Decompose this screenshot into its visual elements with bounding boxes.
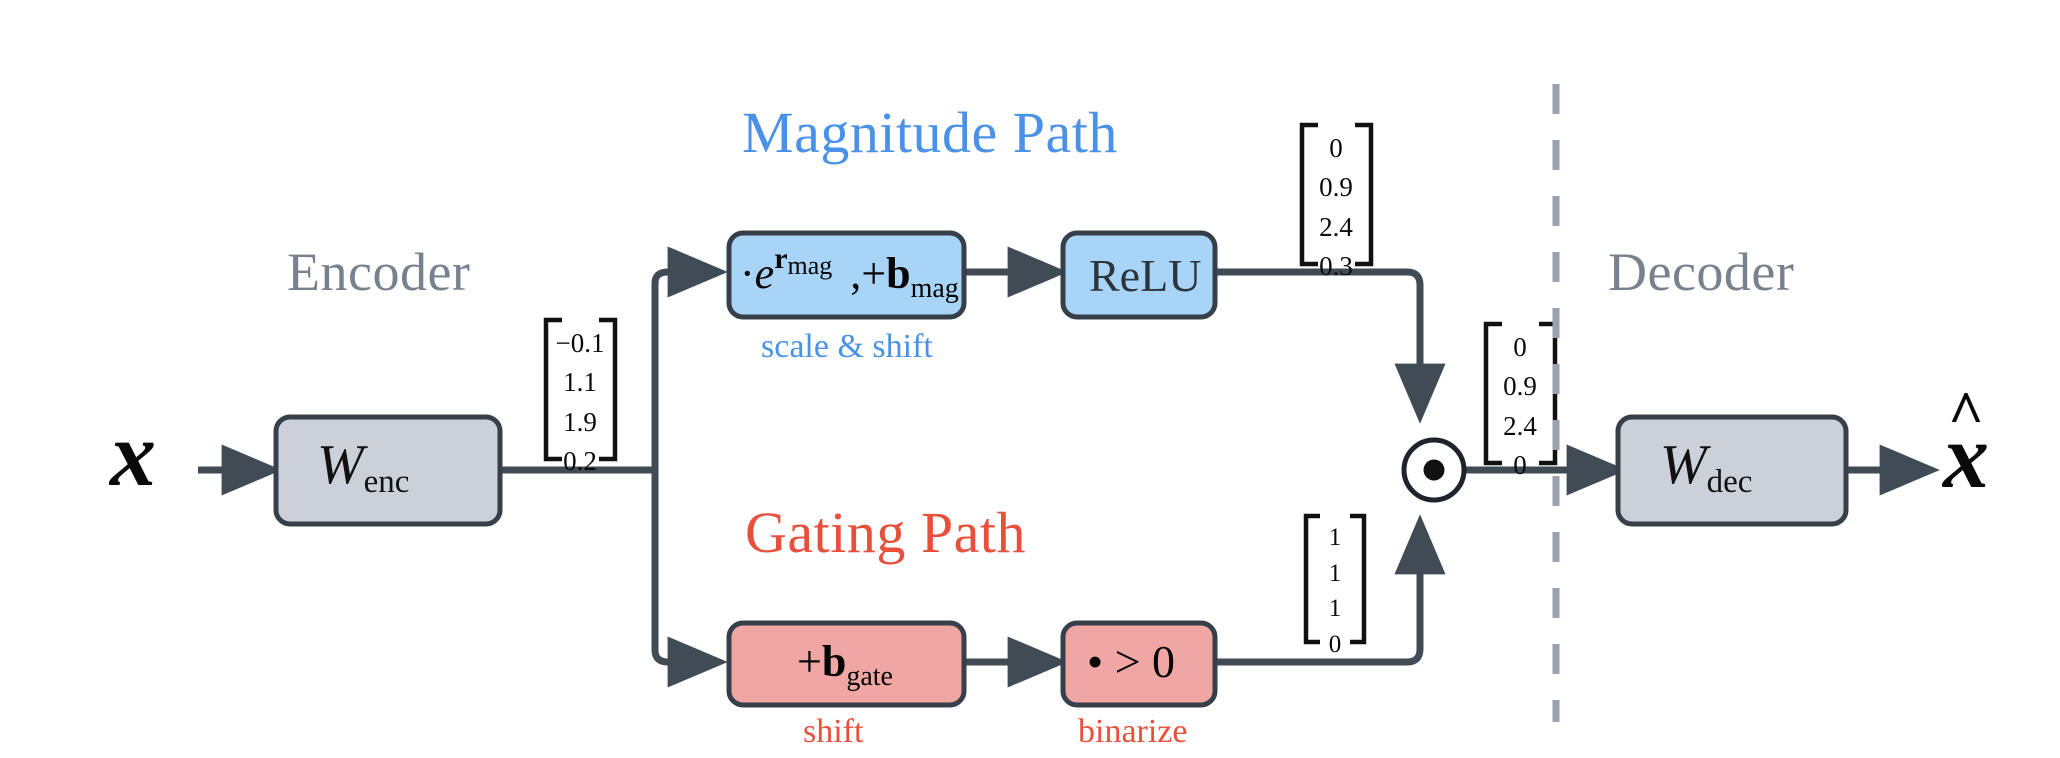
scale-shift-exp-sub: mag (788, 251, 833, 280)
gate-shift-b-sub: gate (846, 661, 893, 692)
gating-path-title: Gating Path (745, 504, 1026, 562)
product-output-vector: 0 0.9 2.4 0 (1490, 328, 1550, 486)
vector-cell: 2.4 (1490, 407, 1550, 446)
hadamard-dot-icon (1424, 460, 1445, 481)
scale-shift-comma-plus: ,+ (850, 249, 886, 298)
magnitude-path-title: Magnitude Path (742, 104, 1118, 162)
vector-cell: 0.2 (550, 442, 610, 481)
decoder-subscript: dec (1707, 464, 1753, 500)
vector-cell: 1 (1310, 556, 1360, 592)
binarize-expression: • > 0 (1087, 639, 1175, 685)
decoder-section-label: Decoder (1608, 245, 1794, 299)
diagram-canvas: Encoder Decoder Magnitude Path Gating Pa… (0, 0, 2060, 758)
encoder-subscript: enc (364, 464, 410, 500)
scale-shift-exp-r: r (774, 242, 787, 275)
scale-shift-e: e (755, 249, 775, 298)
vector-cell: 1 (1310, 591, 1360, 627)
wire-split-to-scale-shift (655, 272, 718, 470)
scale-shift-b-sub: mag (911, 273, 959, 304)
binarize-caption: binarize (1078, 715, 1188, 749)
decoder-box-label: Wdec (1660, 437, 1752, 493)
gate-shift-expression: +bgate (797, 640, 893, 684)
scale-shift-b: b (886, 249, 910, 298)
vector-cell: 0.3 (1306, 247, 1366, 286)
vector-cell: 1.1 (550, 363, 610, 402)
vector-cell: −0.1 (550, 324, 610, 363)
vector-cell: 1.9 (550, 403, 610, 442)
wire-split-to-gate-shift (655, 470, 718, 662)
encoder-section-label: Encoder (287, 245, 470, 299)
encoder-w-glyph: W (317, 434, 364, 496)
gate-output-vector: 1 1 1 0 (1310, 520, 1360, 662)
vector-cell: 0 (1306, 129, 1366, 168)
gate-shift-plus: + (797, 637, 822, 686)
relu-label: ReLU (1089, 253, 1201, 299)
magnitude-output-vector: 0 0.9 2.4 0.3 (1306, 129, 1366, 287)
wire-relu-to-hadamard (1213, 272, 1420, 414)
vector-cell: 0 (1490, 328, 1550, 367)
encoder-output-vector: −0.1 1.1 1.9 0.2 (550, 324, 610, 482)
scale-shift-dot-icon: · (740, 249, 755, 298)
vector-cell: 0.9 (1306, 168, 1366, 207)
scale-shift-caption: scale & shift (761, 330, 933, 364)
gate-shift-b: b (822, 637, 846, 686)
vector-cell: 2.4 (1306, 208, 1366, 247)
gate-shift-caption: shift (803, 715, 863, 749)
vector-cell: 0 (1490, 446, 1550, 485)
decoder-w-glyph: W (1660, 434, 1707, 496)
vector-cell: 1 (1310, 520, 1360, 556)
vector-cell: 0.9 (1490, 367, 1550, 406)
scale-shift-expression: ·ermag,+bmag (740, 252, 959, 296)
input-symbol: x (110, 408, 156, 500)
encoder-box-label: Wenc (317, 437, 409, 493)
output-symbol: x (1943, 410, 1989, 502)
vector-cell: 0 (1310, 627, 1360, 663)
